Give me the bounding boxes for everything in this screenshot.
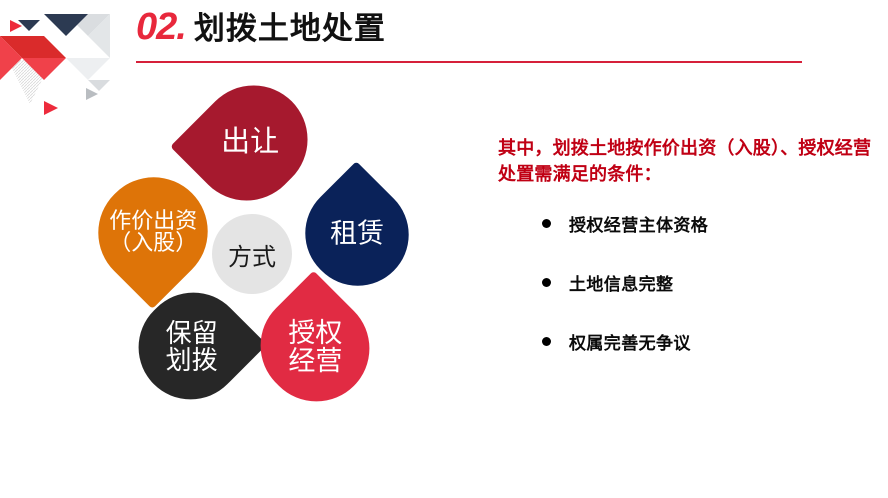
petal-label: 出让 <box>221 128 279 158</box>
deco-triangle-red-2 <box>22 58 66 80</box>
list-item: 授权经营主体资格 <box>542 211 882 236</box>
page-title: 02. 划拨土地处置 <box>136 8 836 56</box>
content-panel: 其中，划拨土地按作价出资（入股）、授权经营处置需满足的条件： 授权经营主体资格 … <box>498 136 882 354</box>
list-item: 土地信息完整 <box>542 270 882 295</box>
deco-arrow-red-small <box>10 20 22 32</box>
petal-label: 租赁 <box>330 220 384 248</box>
deco-triangle-red-1 <box>0 36 22 80</box>
list-item-label: 授权经营主体资格 <box>569 211 708 236</box>
title-underline <box>136 61 802 63</box>
petal-label: 保留 划拨 <box>166 319 218 372</box>
content-heading: 其中，划拨土地按作价出资（入股）、授权经营处置需满足的条件： <box>498 136 882 187</box>
list-item-label: 土地信息完整 <box>569 270 673 295</box>
diagram-hub: 方式 <box>212 214 292 294</box>
condition-list: 授权经营主体资格 土地信息完整 权属完善无争议 <box>498 211 882 354</box>
list-item: 权属完善无争议 <box>542 329 882 354</box>
bullet-dot-icon <box>542 219 551 228</box>
petal-label: 作价出资 （入股） <box>109 210 197 255</box>
bullet-dot-icon <box>542 337 551 346</box>
deco-triangle-hatched <box>8 60 52 104</box>
bullet-dot-icon <box>542 278 551 287</box>
slide-header: 02. 划拨土地处置 <box>136 8 836 64</box>
petal-label: 授权 经营 <box>288 319 342 374</box>
deco-arrow-red-bottom <box>44 101 58 115</box>
deco-triangle-gray-1 <box>66 14 110 36</box>
deco-triangle-gray-2 <box>88 14 110 58</box>
deco-triangle-gray-3 <box>66 58 110 80</box>
list-item-label: 权属完善无争议 <box>569 329 691 354</box>
deco-triangle-navy-2 <box>18 20 40 31</box>
hub-label: 方式 <box>228 237 276 272</box>
deco-triangle-gray-4 <box>22 58 66 80</box>
deco-parallelogram-red <box>0 36 66 58</box>
section-title: 划拨土地处置 <box>194 13 386 44</box>
deco-triangle-navy-1 <box>44 14 88 36</box>
section-number: 02. <box>136 8 186 46</box>
petal-shouquanjingying[interactable]: 授权 经营 <box>239 271 392 424</box>
petal-diagram: 出让 租赁 作价出资 （入股） 保留 划拨 授权 经营 方式 <box>88 78 448 418</box>
